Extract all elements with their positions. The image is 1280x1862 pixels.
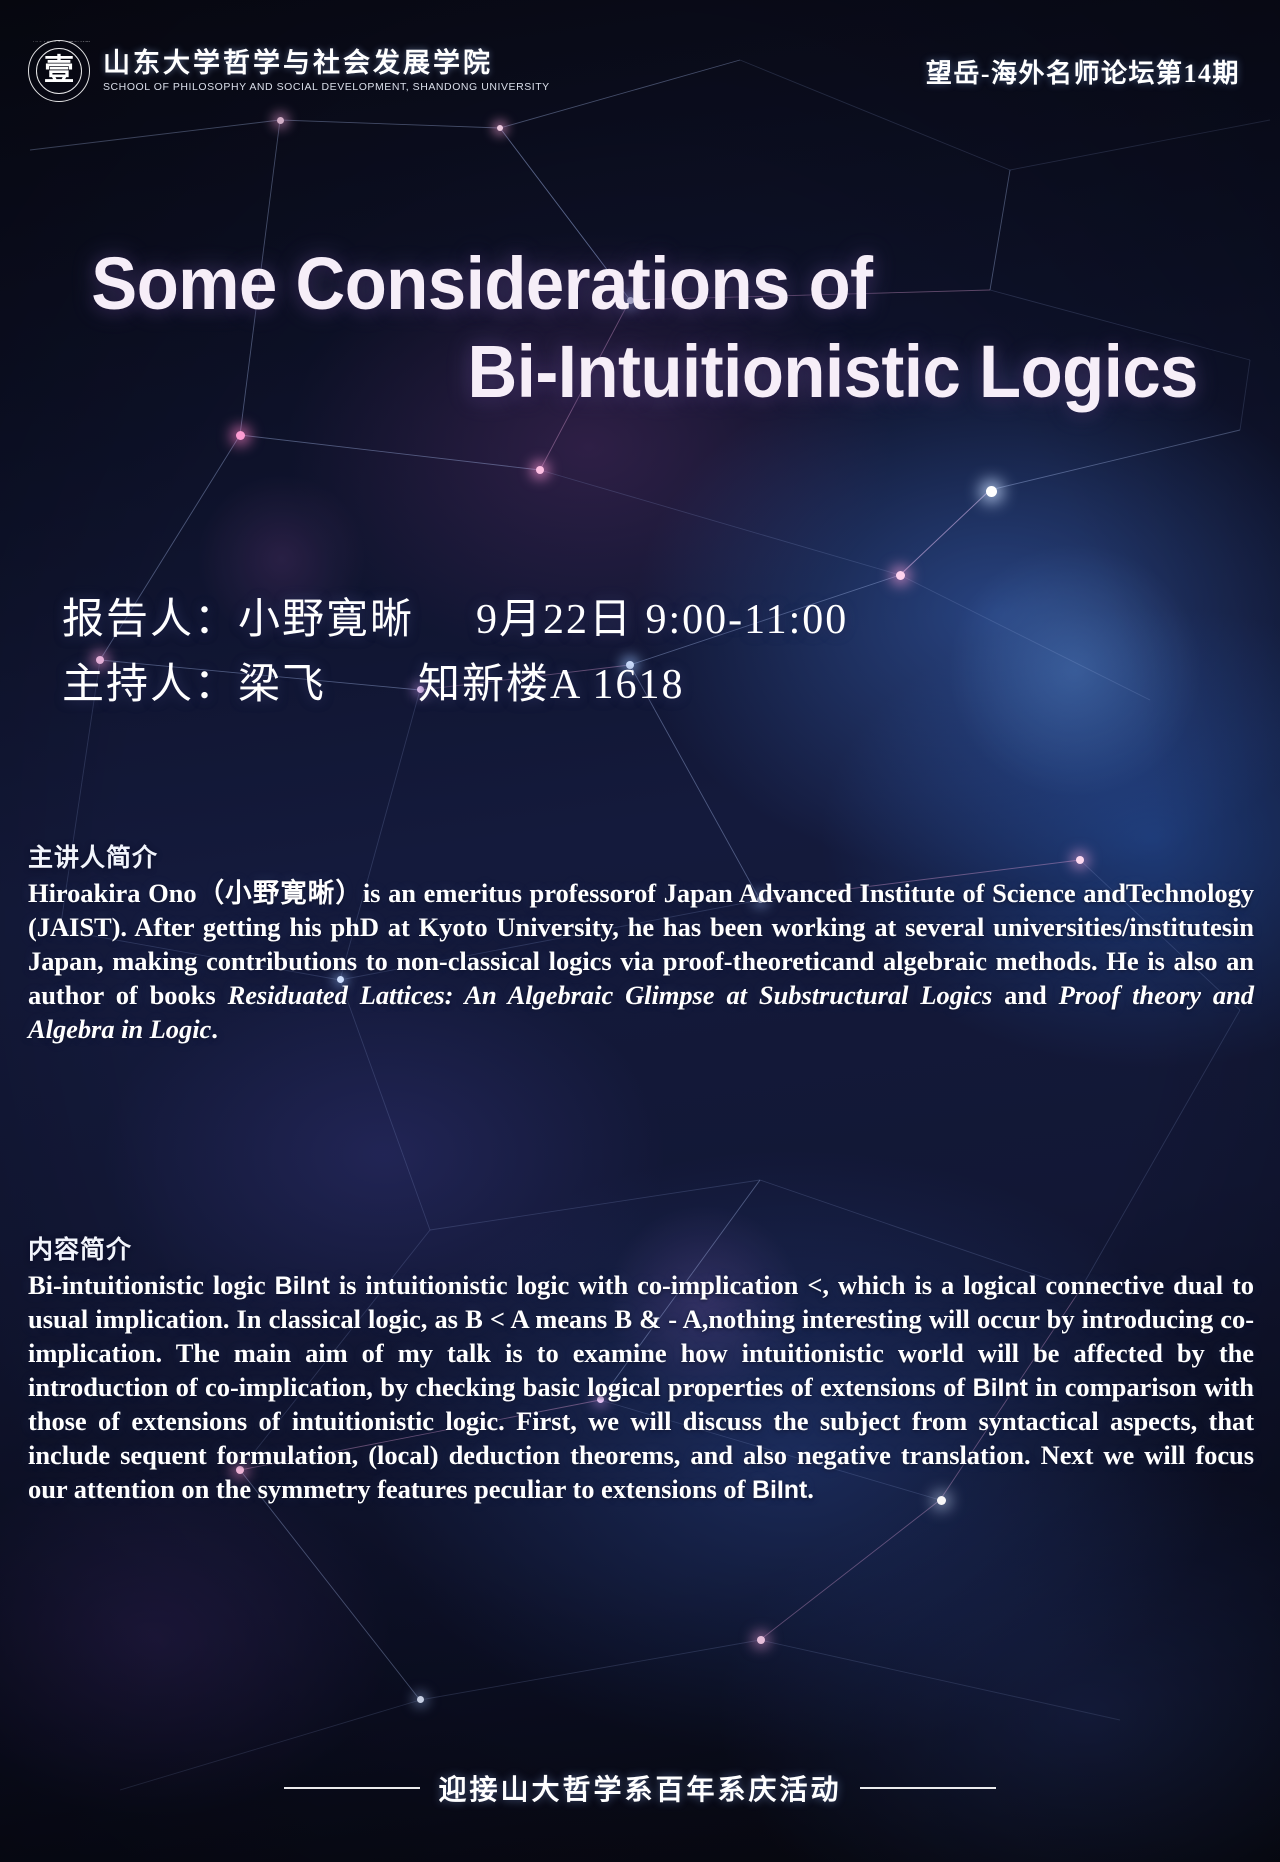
abstract-seg-1: Bi-intuitionistic logic	[28, 1270, 275, 1300]
university-crest-icon: 山东大学哲学与社会发展学院 壹	[28, 40, 90, 102]
brand-text-block: 山东大学哲学与社会发展学院 SCHOOL OF PHILOSOPHY AND S…	[103, 49, 550, 92]
title-line-2: Bi-Intuitionistic Logics	[82, 328, 1198, 416]
university-brand: 山东大学哲学与社会发展学院 壹 山东大学哲学与社会发展学院 SCHOOL OF …	[28, 40, 550, 102]
host-label: 主持人：梁飞	[62, 653, 326, 718]
footer-slogan: 迎接山大哲学系百年系庆活动	[438, 1768, 841, 1808]
abstract-term-biint-1: BiInt	[275, 1272, 330, 1300]
school-name-cn: 山东大学哲学与社会发展学院	[103, 49, 550, 78]
bio-book-title-1: Residuated Lattices: An Algebraic Glimps…	[228, 980, 993, 1010]
event-row-host: 主持人：梁飞 知新楼A 1618	[62, 653, 1240, 718]
forum-series-label: 望岳-海外名师论坛第14期	[926, 53, 1240, 90]
event-datetime: 9月22日 9:00-11:00	[476, 588, 848, 653]
event-details: 报告人：小野寛晰 9月22日 9:00-11:00 主持人：梁飞 知新楼A 16…	[62, 588, 1240, 718]
footer-rule-right	[860, 1787, 996, 1789]
bio-paragraph: Hiroakira Ono（小野寛晰）is an emeritus profes…	[28, 876, 1254, 1046]
crest-glyph: 壹	[44, 56, 74, 86]
speaker-label: 报告人：小野寛晰	[62, 588, 414, 653]
event-row-speaker: 报告人：小野寛晰 9月22日 9:00-11:00	[62, 588, 1240, 653]
abstract-term-biint-2: BiInt	[973, 1374, 1028, 1402]
speaker-bio-section: 主讲人简介 Hiroakira Ono（小野寛晰）is an emeritus …	[28, 838, 1254, 1046]
poster-title: Some Considerations of Bi-Intuitionistic…	[40, 240, 1240, 416]
poster-canvas: 山东大学哲学与社会发展学院 壹 山东大学哲学与社会发展学院 SCHOOL OF …	[0, 0, 1280, 1862]
school-name-en: SCHOOL OF PHILOSOPHY AND SOCIAL DEVELOPM…	[103, 81, 550, 93]
poster-footer: 迎接山大哲学系百年系庆活动	[0, 1768, 1280, 1808]
poster-header: 山东大学哲学与社会发展学院 壹 山东大学哲学与社会发展学院 SCHOOL OF …	[0, 36, 1280, 106]
event-venue: 知新楼A 1618	[418, 653, 685, 718]
abstract-paragraph: Bi-intuitionistic logic BiInt is intuiti…	[28, 1268, 1254, 1507]
abstract-heading: 内容简介	[28, 1230, 1254, 1266]
bio-conjunction: and	[992, 980, 1058, 1010]
abstract-term-biint-3: BiInt	[752, 1476, 807, 1504]
footer-rule-left	[284, 1787, 420, 1789]
title-line-1: Some Considerations of	[82, 240, 1198, 328]
abstract-seg-4: .	[807, 1474, 814, 1504]
bio-heading: 主讲人简介	[28, 838, 1254, 874]
crest-ring-label: 山东大学哲学与社会发展学院	[29, 41, 91, 43]
bio-tail: .	[211, 1014, 218, 1044]
abstract-section: 内容简介 Bi-intuitionistic logic BiInt is in…	[28, 1230, 1254, 1507]
